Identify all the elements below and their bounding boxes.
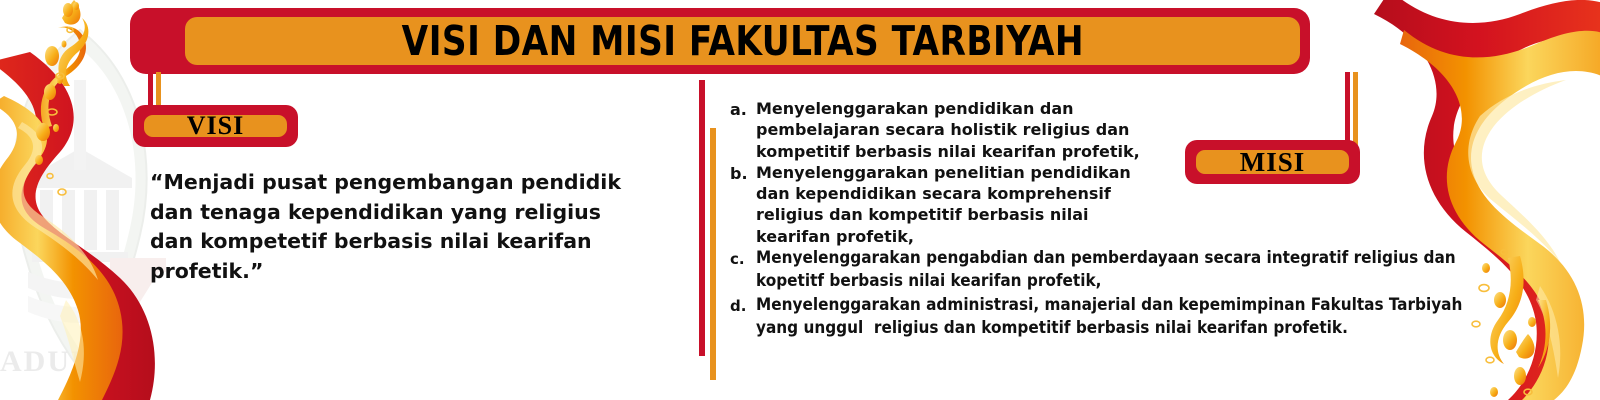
connector-visi-red: [148, 72, 153, 108]
divider-red: [699, 80, 705, 356]
mission-text-a: Menyelenggarakan pendidikan dan pembelaj…: [756, 98, 1166, 162]
vision-statement: “Menjadi pusat pengembangan pendidik dan…: [150, 168, 650, 287]
visi-badge: VISI: [133, 105, 298, 147]
mission-marker-b: b.: [730, 162, 756, 184]
mission-text-b: Menyelenggarakan penelitian pendidikan d…: [756, 162, 1166, 247]
title-banner: VISI DAN MISI FAKULTAS TARBIYAH: [130, 8, 1310, 74]
visi-misi-banner: ADURA: [0, 0, 1600, 400]
title-banner-inner: VISI DAN MISI FAKULTAS TARBIYAH: [185, 17, 1300, 65]
divider-orange: [710, 128, 716, 380]
page-title: VISI DAN MISI FAKULTAS TARBIYAH: [401, 21, 1083, 62]
mission-marker-c: c.: [730, 247, 756, 270]
mission-text-d: Menyelenggarakan administrasi, manajeria…: [756, 294, 1490, 341]
connector-visi-orange: [156, 72, 161, 108]
mission-text-c: Menyelenggarakan pengabdian dan pemberda…: [756, 247, 1490, 294]
mission-item-b: b. Menyelenggarakan penelitian pendidika…: [730, 162, 1490, 247]
mission-list: a. Menyelenggarakan pendidikan dan pembe…: [730, 98, 1490, 341]
watermark-text: ADURA: [0, 345, 140, 379]
mission-item-c: c. Menyelenggarakan pengabdian dan pembe…: [730, 247, 1490, 294]
visi-badge-label: VISI: [187, 113, 244, 139]
university-logo-watermark: [0, 20, 170, 400]
mission-marker-d: d.: [730, 294, 756, 317]
mission-item-a: a. Menyelenggarakan pendidikan dan pembe…: [730, 98, 1490, 162]
mission-marker-a: a.: [730, 98, 756, 120]
visi-badge-inner: VISI: [144, 115, 287, 137]
mission-item-d: d. Menyelenggarakan administrasi, manaje…: [730, 294, 1490, 341]
